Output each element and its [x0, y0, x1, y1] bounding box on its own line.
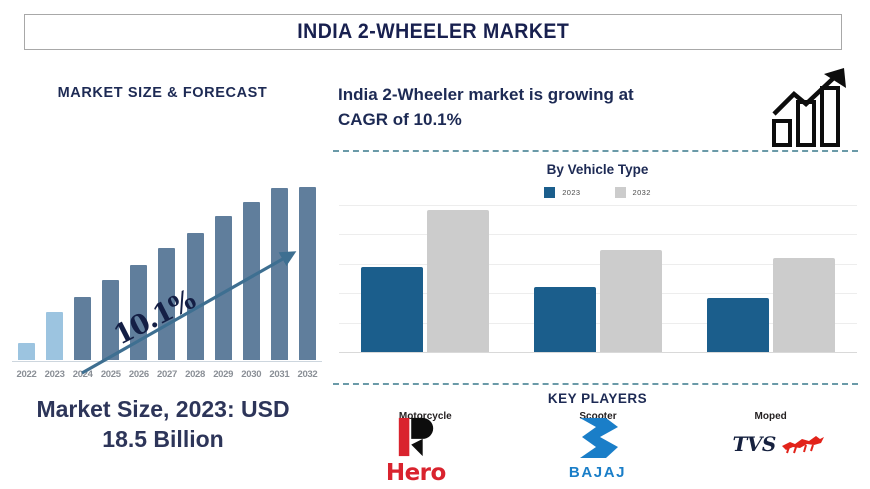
market-size-year-label: 2025	[97, 369, 124, 380]
legend-item[interactable]: 2023	[544, 187, 580, 198]
market-size-year-label: 2030	[238, 369, 265, 380]
market-size-year-label: 2029	[210, 369, 237, 380]
vehicle-type-group	[523, 250, 673, 353]
market-size-bar	[271, 188, 288, 360]
market-size-value-line1: Market Size, 2023: USD	[36, 396, 289, 422]
key-players-logos: Hero BAJAJ TVS	[325, 416, 870, 486]
tvs-logo-row: TVS	[732, 432, 825, 456]
vehicle-type-bar	[534, 287, 596, 353]
market-size-value: Market Size, 2023: USD 18.5 Billion	[8, 395, 318, 455]
market-size-bar	[299, 187, 316, 360]
logo-tvs: TVS	[694, 416, 864, 486]
vehicle-type-group	[696, 258, 846, 353]
market-size-forecast-chart: 2022202320242025202620272028202920302031…	[12, 154, 322, 386]
vehicle-type-bar	[427, 210, 489, 353]
market-size-bar	[74, 297, 91, 360]
left-panel-market-size: MARKET SIZE & FORECAST 20222023202420252…	[0, 58, 325, 489]
vehicle-type-bars	[339, 205, 857, 353]
bajaj-mark-icon	[566, 416, 628, 462]
cagr-statement-line1: India 2-Wheeler market is growing at	[338, 85, 634, 104]
vehicle-type-group	[350, 210, 500, 353]
market-size-bar	[243, 202, 260, 360]
vehicle-type-bar	[361, 267, 423, 353]
market-size-bars	[12, 160, 322, 360]
legend-swatch	[615, 187, 626, 198]
legend-label: 2032	[633, 188, 651, 197]
bajaj-wordmark: BAJAJ	[569, 464, 626, 481]
vehicle-type-axis-line	[339, 352, 857, 353]
infographic-page: INDIA 2-WHEELER MARKET MARKET SIZE & FOR…	[0, 0, 870, 489]
legend-label: 2023	[562, 188, 580, 197]
vehicle-type-chart	[339, 205, 857, 353]
market-size-year-labels: 2022202320242025202620272028202920302031…	[12, 369, 322, 380]
cagr-statement: India 2-Wheeler market is growing at CAG…	[338, 83, 738, 132]
tvs-wordmark: TVS	[732, 432, 775, 456]
vehicle-type-bar	[600, 250, 662, 353]
by-vehicle-type-heading: By Vehicle Type	[325, 162, 870, 177]
divider-bottom	[333, 383, 858, 385]
legend-swatch	[544, 187, 555, 198]
market-size-year-label: 2023	[41, 369, 68, 380]
market-size-bar	[46, 312, 63, 360]
market-size-forecast-heading: MARKET SIZE & FORECAST	[0, 85, 325, 101]
vehicle-type-legend: 20232032	[325, 187, 870, 198]
market-size-value-line2: 18.5 Billion	[102, 426, 223, 452]
cagr-statement-line2: CAGR of 10.1%	[338, 110, 462, 129]
market-size-bar	[215, 216, 232, 360]
market-size-year-label: 2022	[13, 369, 40, 380]
market-size-year-label: 2031	[266, 369, 293, 380]
hero-mark-icon	[385, 416, 447, 458]
vehicle-type-bar	[773, 258, 835, 353]
divider-top	[333, 150, 858, 152]
market-size-bar	[18, 343, 35, 360]
market-size-year-label: 2027	[153, 369, 180, 380]
market-size-axis-line	[12, 361, 322, 362]
right-panel: India 2-Wheeler market is growing at CAG…	[325, 58, 870, 489]
logo-hero: Hero	[331, 416, 501, 486]
page-title: INDIA 2-WHEELER MARKET	[297, 20, 569, 44]
logo-bajaj: BAJAJ	[512, 416, 682, 486]
title-banner: INDIA 2-WHEELER MARKET	[24, 14, 842, 50]
market-size-year-label: 2032	[294, 369, 321, 380]
market-size-year-label: 2024	[69, 369, 96, 380]
growth-bar-arrow-icon	[768, 64, 858, 149]
hero-wordmark: Hero	[386, 460, 446, 486]
market-size-year-label: 2028	[182, 369, 209, 380]
vehicle-type-bar	[707, 298, 769, 353]
tvs-horse-icon	[780, 433, 826, 455]
key-players-heading: KEY PLAYERS	[325, 391, 870, 406]
market-size-year-label: 2026	[125, 369, 152, 380]
legend-item[interactable]: 2032	[615, 187, 651, 198]
